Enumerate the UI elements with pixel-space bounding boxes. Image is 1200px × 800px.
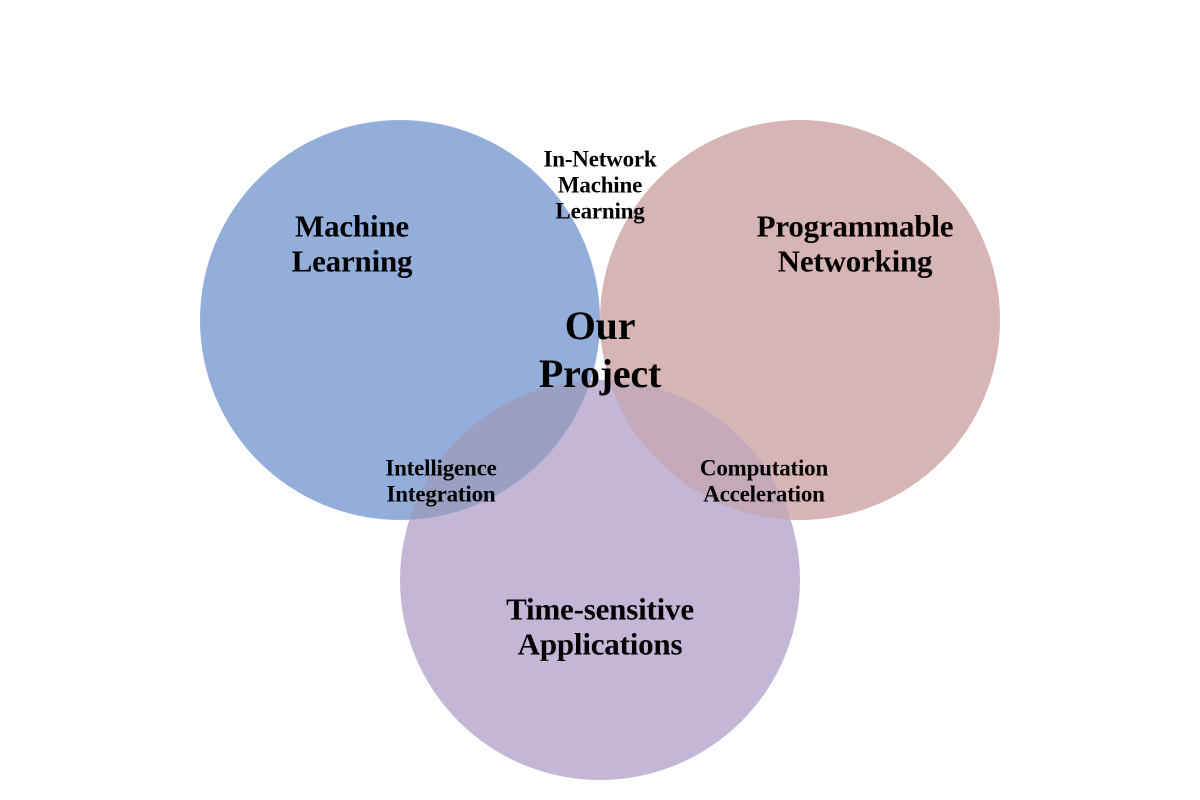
venn-circles-graphic <box>0 0 1200 800</box>
venn-diagram-canvas: Machine Learning Programmable Networking… <box>0 0 1200 800</box>
